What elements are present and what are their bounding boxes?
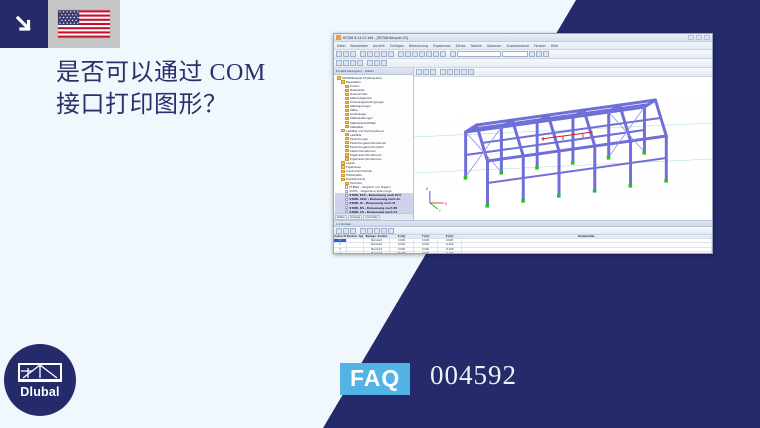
dimension-tool-icon[interactable] (381, 60, 387, 66)
language-flag-block[interactable] (48, 0, 120, 48)
folder-icon (345, 105, 349, 108)
folder-icon (345, 121, 349, 124)
load-case-number-select[interactable] (502, 51, 528, 57)
app-title-bar: RSTAB 8.24.02 x64 - [RSTAB-Beispiel-05] (334, 34, 712, 42)
folder-icon (345, 89, 349, 92)
table-cell[interactable]: Standard (364, 248, 390, 251)
module-icon (345, 194, 348, 198)
display-supports-icon[interactable] (468, 69, 474, 75)
secondary-toolbar[interactable] (334, 59, 712, 68)
table-cell[interactable]: Standard (364, 252, 390, 254)
menu-bar[interactable]: Datei Bearbeiten Ansicht Einfügen Berech… (334, 42, 712, 50)
table-cell[interactable] (347, 248, 364, 251)
open-file-icon[interactable] (343, 51, 349, 57)
window-controls[interactable] (688, 35, 710, 40)
table-cell[interactable]: 0.000 (414, 243, 438, 246)
zoom-in-icon[interactable] (412, 51, 418, 57)
menu-item-extras[interactable]: Extras (456, 44, 466, 48)
table-cell[interactable]: 1 (334, 239, 347, 242)
table-cell[interactable]: 3 (334, 248, 347, 251)
print-preview-icon[interactable] (367, 51, 373, 57)
folder-icon (341, 178, 345, 181)
table-cell[interactable]: -6.000 (438, 243, 462, 246)
folder-icon (345, 149, 349, 152)
project-navigator[interactable]: Projekt-Navigator - Daten RSTAB-Beispiel… (334, 68, 414, 220)
arrow-down-right-icon (13, 13, 35, 35)
table-help-icon[interactable] (388, 228, 394, 234)
node-tool-icon[interactable] (336, 60, 342, 66)
menu-item-tabelle[interactable]: Tabelle (471, 44, 482, 48)
snap-tool-icon[interactable] (367, 60, 373, 66)
slide-canvas: 是否可以通过 COM 接口打印图形？ Dlubal FAQ 004592 RST… (0, 0, 760, 428)
folder-icon (337, 76, 341, 79)
navigator-tab-ansichten[interactable]: Ansichten (363, 215, 380, 220)
redo-icon[interactable] (405, 51, 411, 57)
table-new-row-icon[interactable] (336, 228, 342, 234)
load-case-select[interactable] (457, 51, 501, 57)
table-export-icon[interactable] (374, 228, 380, 234)
workspace-row: Projekt-Navigator - Daten RSTAB-Beispiel… (334, 68, 712, 220)
view-iso-icon[interactable] (416, 69, 422, 75)
folder-icon (345, 117, 349, 120)
folder-icon (345, 133, 349, 136)
data-table-pane[interactable]: 1.1 Knoten Knoten Nr.Knoten- TypBezugs- … (334, 220, 712, 254)
menu-item-fenster[interactable]: Fenster (534, 44, 546, 48)
table-column-header: Knoten- Typ (347, 235, 364, 238)
menu-item-berechnung[interactable]: Berechnung (409, 44, 428, 48)
zoom-window-icon[interactable] (454, 69, 460, 75)
folder-icon (345, 101, 349, 104)
table-cell[interactable] (462, 239, 712, 242)
table-toolbar[interactable] (334, 227, 712, 235)
table-column-header: X [m] (390, 235, 414, 238)
folder-icon (341, 174, 345, 177)
folder-icon (341, 80, 345, 83)
render-icon[interactable] (440, 51, 446, 57)
deformation-icon[interactable] (536, 51, 542, 57)
table-cell[interactable]: 0.000 (414, 252, 438, 254)
us-flag-icon (58, 10, 110, 38)
menu-item-hilfe[interactable]: Hilfe (551, 44, 558, 48)
folder-icon (345, 97, 349, 100)
folder-icon (341, 161, 345, 164)
table-cell[interactable]: Standard (364, 243, 390, 246)
rstab-screenshot-window[interactable]: RSTAB 8.24.02 x64 - [RSTAB-Beispiel-05] … (333, 33, 713, 254)
app-title: RSTAB 8.24.02 x64 - [RSTAB-Beispiel-05] (343, 36, 408, 40)
folder-icon (345, 153, 349, 156)
folder-icon (345, 85, 349, 88)
menu-item-bearbeiten[interactable]: Bearbeiten (351, 44, 369, 48)
steel-frame-model: X Y Z (414, 77, 712, 220)
calculate-icon[interactable] (450, 51, 456, 57)
folder-icon (345, 109, 349, 112)
table-cell[interactable]: 0.000 (414, 239, 438, 242)
corner-arrow-block (0, 0, 48, 48)
new-file-icon[interactable] (336, 51, 342, 57)
headline-line-1: 是否可以通过 COM (56, 60, 266, 86)
table-cell[interactable] (347, 239, 364, 242)
table-row[interactable]: 4Standard12.0000.000-6.000 (334, 252, 712, 254)
table-cell[interactable]: 4 (334, 252, 347, 254)
support-tool-icon[interactable] (350, 60, 356, 66)
undo-icon[interactable] (398, 51, 404, 57)
table-cell[interactable]: Standard (364, 239, 390, 242)
menu-item-ergebnisse[interactable]: Ergebnisse (433, 44, 450, 48)
viewport-toolbar[interactable] (414, 68, 712, 77)
module-icon (345, 198, 348, 202)
navigator-tab-daten[interactable]: Daten (335, 215, 347, 220)
navigator-tree[interactable]: RSTAB-Beispiel-05 [Beispiele] Basisdaten… (334, 75, 413, 213)
table-cell[interactable]: 0.000 (390, 248, 414, 251)
grid-tool-icon[interactable] (374, 60, 380, 66)
menu-item-datei[interactable]: Datei (337, 44, 346, 48)
table-settings-icon[interactable] (381, 228, 387, 234)
table-cell[interactable]: 0.000 (390, 243, 414, 246)
table-cell[interactable]: 0.000 (438, 239, 462, 242)
navigator-tabs[interactable]: Daten Anzeige Ansichten (334, 213, 413, 220)
table-column-header: Knoten Nr. (334, 235, 347, 238)
maximize-button[interactable] (696, 35, 702, 40)
hinge-tool-icon[interactable] (357, 60, 363, 66)
page-title: 是否可以通过 COM 接口打印图形？ (56, 58, 326, 122)
headline-line-2: 接口打印图形？ (56, 90, 326, 122)
table-grid[interactable]: Knoten Nr.Knoten- TypBezugs- knotenX [m]… (334, 235, 712, 254)
view-front-icon[interactable] (430, 69, 436, 75)
display-numbers-icon[interactable] (461, 69, 467, 75)
module-icon (345, 190, 348, 194)
zoom-out-icon[interactable] (419, 51, 425, 57)
dlubal-logo[interactable]: Dlubal (4, 344, 76, 416)
table-column-header: Z [m] (438, 235, 462, 238)
table-cell[interactable]: -6.000 (438, 252, 462, 254)
folder-icon (345, 137, 349, 140)
zoom-fit-icon[interactable] (426, 51, 432, 57)
view-top-icon[interactable] (423, 69, 429, 75)
folder-icon (341, 129, 345, 132)
table-sort-icon[interactable] (367, 228, 373, 234)
table-cell[interactable] (347, 243, 364, 246)
results-on-off-icon[interactable] (529, 51, 535, 57)
cut-icon[interactable] (374, 51, 380, 57)
dlubal-frame-icon (18, 361, 62, 383)
module-icon (345, 185, 348, 189)
close-button[interactable] (704, 35, 710, 40)
module-icon (345, 202, 348, 206)
pan-icon[interactable] (440, 69, 446, 75)
table-cell[interactable]: -8.000 (438, 248, 462, 251)
member-tool-icon[interactable] (343, 60, 349, 66)
minimize-button[interactable] (688, 35, 694, 40)
table-cell[interactable] (462, 252, 712, 254)
module-icon (345, 206, 348, 210)
rotate-view-icon[interactable] (433, 51, 439, 57)
table-cell[interactable]: 2 (334, 243, 347, 246)
print-icon[interactable] (360, 51, 366, 57)
table-column-header: Bezugs- knoten (364, 235, 390, 238)
menu-item-optionen[interactable]: Optionen (487, 44, 502, 48)
dlubal-logo-text: Dlubal (20, 385, 59, 399)
folder-icon (341, 165, 345, 168)
table-copy-icon[interactable] (350, 228, 356, 234)
faq-number: 004592 (430, 360, 517, 391)
help-icon[interactable] (543, 51, 549, 57)
table-filter-icon[interactable] (360, 228, 366, 234)
table-cell[interactable] (462, 248, 712, 251)
paste-icon[interactable] (388, 51, 394, 57)
folder-icon (345, 113, 349, 116)
table-column-header: Y [m] (414, 235, 438, 238)
table-cell[interactable] (462, 243, 712, 246)
table-delete-row-icon[interactable] (343, 228, 349, 234)
table-cell[interactable]: 12.000 (390, 252, 414, 254)
folder-icon (345, 93, 349, 96)
navigator-tab-anzeige[interactable]: Anzeige (348, 215, 362, 220)
rstab-app-icon (336, 35, 341, 40)
table-column-header: Kommentar (462, 235, 712, 238)
table-cell[interactable]: 0.000 (390, 239, 414, 242)
folder-icon (345, 145, 349, 148)
folder-icon (345, 182, 349, 185)
navigator-header: Projekt-Navigator - Daten (334, 68, 413, 75)
model-viewport[interactable]: X Y Z (414, 68, 712, 220)
menu-item-ansicht[interactable]: Ansicht (373, 44, 385, 48)
table-cell[interactable]: 0.000 (414, 248, 438, 251)
folder-icon (341, 170, 345, 173)
main-toolbar[interactable] (334, 50, 712, 59)
faq-badge: FAQ (340, 363, 410, 395)
menu-item-zusatzmodule[interactable]: Zusatzmodule (506, 44, 529, 48)
save-icon[interactable] (350, 51, 356, 57)
orbit-icon[interactable] (447, 69, 453, 75)
table-cell[interactable] (347, 252, 364, 254)
folder-icon (345, 141, 349, 144)
copy-icon[interactable] (381, 51, 387, 57)
menu-item-einfuegen[interactable]: Einfügen (390, 44, 404, 48)
